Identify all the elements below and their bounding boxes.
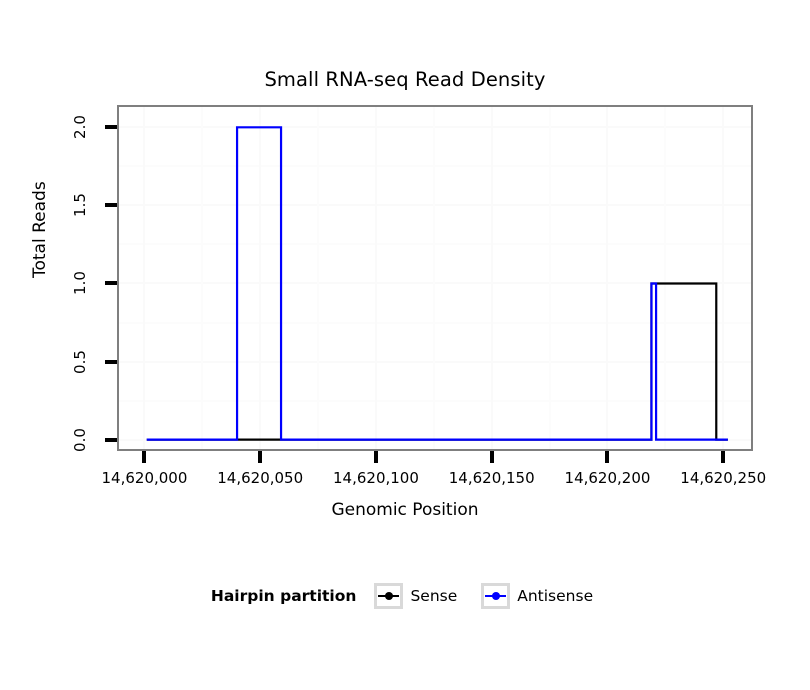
series-line-sense [147,283,728,439]
legend-key-icon [481,583,510,609]
y-axis-tick-label: 2.0 [71,107,89,147]
x-axis-tick [721,451,725,463]
legend: Hairpin partition SenseAntisense [0,583,810,609]
y-axis-title: Total Reads [30,181,50,278]
series-line-antisense [147,127,728,439]
legend-key-dot [385,592,393,600]
legend-item-antisense[interactable]: Antisense [481,583,593,609]
x-axis-tick [374,451,378,463]
legend-title: Hairpin partition [211,587,357,605]
chart-title: Small RNA-seq Read Density [0,68,810,91]
x-axis-tick-label: 14,620,100 [333,469,419,487]
x-axis-tick [605,451,609,463]
chart-container: Small RNA-seq Read Density 0.00.51.01.52… [0,0,810,690]
legend-key-dot [492,592,500,600]
x-axis-tick-label: 14,620,000 [102,469,188,487]
series-layer [119,107,751,449]
x-axis-tick [258,451,262,463]
y-axis-tick-label: 1.5 [71,185,89,225]
y-axis-tick-label: 0.5 [71,342,89,382]
legend-label: Antisense [517,587,593,605]
y-axis-tick [105,125,117,129]
legend-items: SenseAntisense [374,583,599,609]
x-axis-tick-label: 14,620,250 [680,469,766,487]
y-axis-tick-label: 1.0 [71,263,89,303]
legend-item-sense[interactable]: Sense [374,583,475,609]
plot-panel [117,105,753,451]
x-axis-tick [142,451,146,463]
x-axis-tick-label: 14,620,200 [565,469,651,487]
legend-key-icon [374,583,403,609]
y-axis-tick-label: 0.0 [71,420,89,460]
plot-area [119,107,751,449]
legend-label: Sense [410,587,457,605]
y-axis-tick [105,281,117,285]
y-axis-tick [105,360,117,364]
x-axis-tick-label: 14,620,050 [217,469,303,487]
y-axis-tick [105,203,117,207]
y-axis-tick [105,438,117,442]
x-axis-title: Genomic Position [0,500,810,520]
x-axis-tick-label: 14,620,150 [449,469,535,487]
x-axis-tick [490,451,494,463]
